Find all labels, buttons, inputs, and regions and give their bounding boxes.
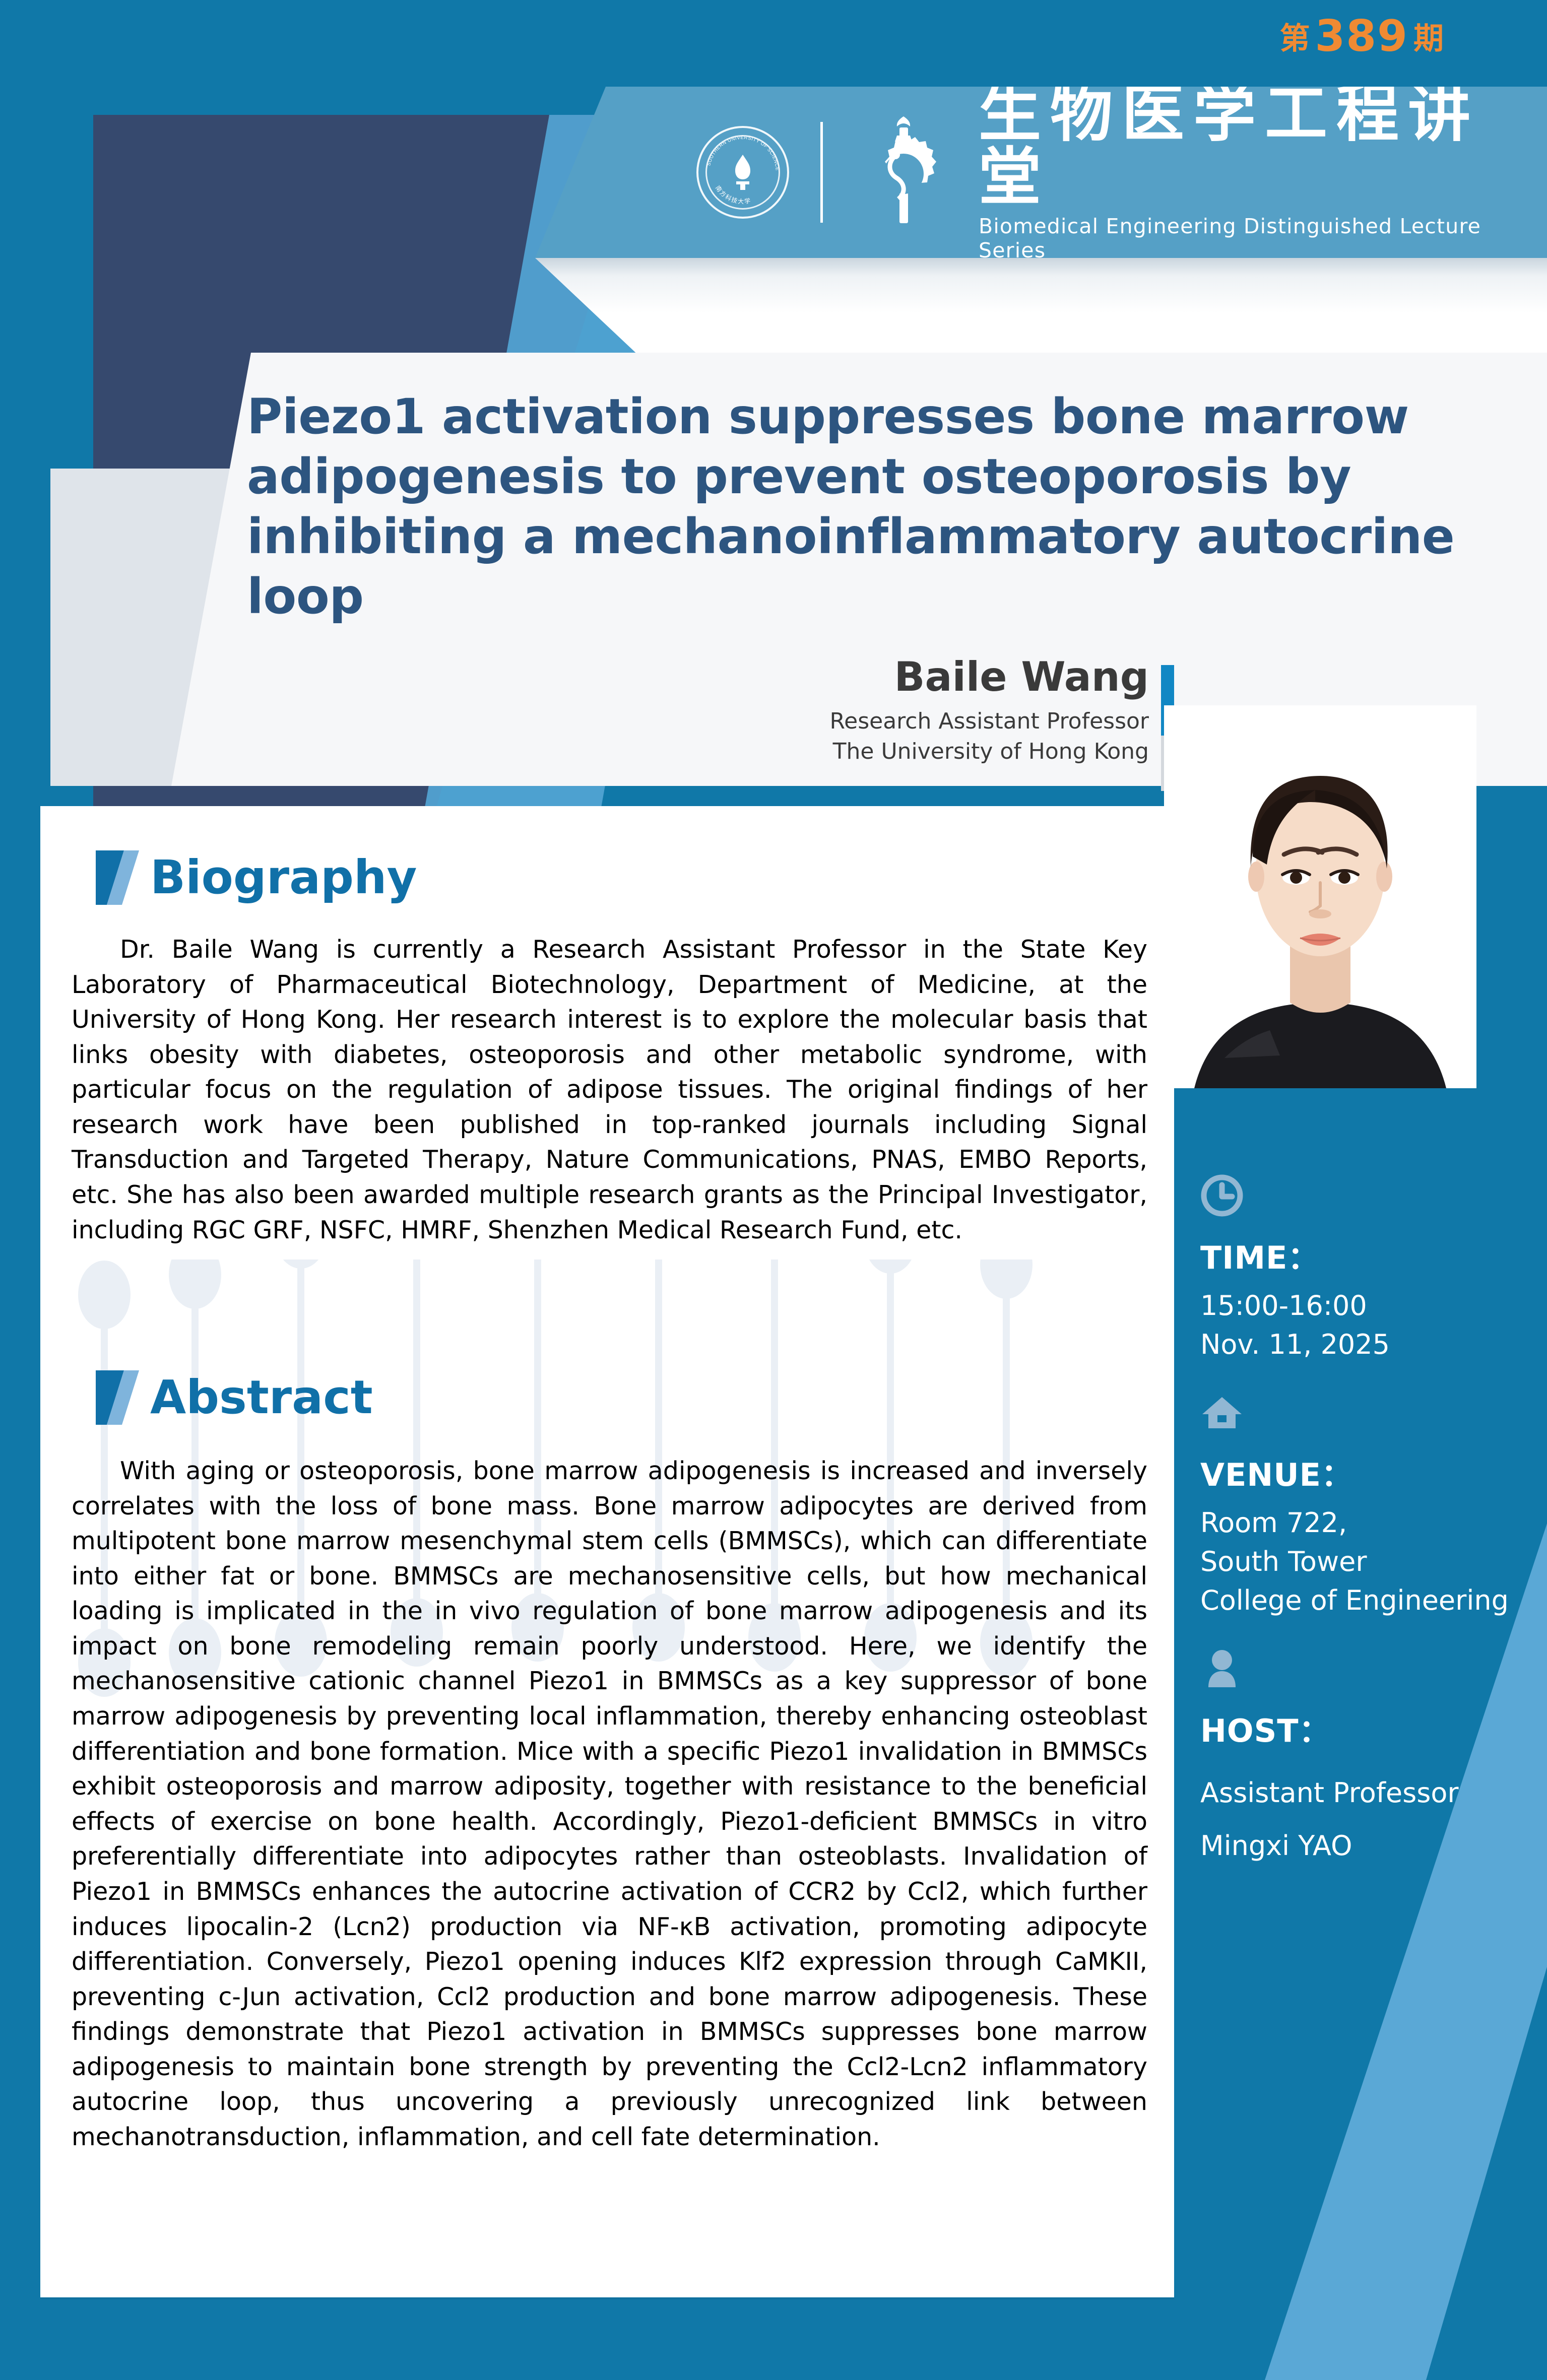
sustech-university-seal-icon: SOUTHERN UNIVERSITY OF SCIENCE AND TECHN…: [696, 126, 789, 219]
venue-value-tower: South Tower: [1200, 1543, 1547, 1581]
header-chinese-title: 生物医学工程讲堂: [979, 82, 1547, 210]
issue-number-badge: 第389期: [1279, 11, 1444, 61]
abstract-body: With aging or osteoporosis, bone marrow …: [72, 1453, 1147, 2155]
biography-body: Dr. Baile Wang is currently a Research A…: [72, 932, 1147, 1247]
event-info-sidebar: TIME： 15:00-16:00 Nov. 11, 2025 VENUE： R…: [1200, 1174, 1547, 1893]
issue-number: 389: [1315, 11, 1408, 61]
biography-heading-label: Biography: [150, 854, 417, 901]
venue-label: VENUE：: [1200, 1449, 1547, 1495]
time-value-hours: 15:00-16:00: [1200, 1287, 1547, 1326]
time-label: TIME：: [1200, 1232, 1547, 1278]
speaker-block: Baile Wang Research Assistant Professor …: [695, 655, 1149, 767]
issue-suffix: 期: [1413, 21, 1444, 56]
home-icon: [1200, 1391, 1244, 1434]
abstract-heading-label: Abstract: [150, 1374, 373, 1421]
venue-value-college: College of Engineering: [1200, 1581, 1547, 1620]
page-title: Piezo1 activation suppresses bone marrow…: [247, 387, 1502, 627]
section-marker-icon: [96, 850, 139, 905]
header-divider: [820, 122, 823, 223]
issue-band: [535, 258, 1547, 358]
header-banner: SOUTHERN UNIVERSITY OF SCIENCE AND TECHN…: [535, 87, 1547, 258]
issue-prefix: 第: [1279, 21, 1310, 56]
time-value-date: Nov. 11, 2025: [1200, 1326, 1547, 1364]
host-info-block: HOST： Assistant Professor Mingxi YAO: [1200, 1647, 1547, 1865]
section-marker-icon: [96, 1370, 139, 1425]
time-info-block: TIME： 15:00-16:00 Nov. 11, 2025: [1200, 1174, 1547, 1364]
lecture-poster: SOUTHERN UNIVERSITY OF SCIENCE AND TECHN…: [0, 0, 1547, 2380]
venue-info-block: VENUE： Room 722, South Tower College of …: [1200, 1391, 1547, 1620]
bme-emblem-icon: [852, 114, 955, 230]
header-english-title: Biomedical Engineering Distinguished Lec…: [979, 214, 1547, 262]
host-label: HOST：: [1200, 1705, 1547, 1751]
speaker-portrait-photo: [1164, 705, 1476, 1088]
host-value-name: Mingxi YAO: [1200, 1827, 1547, 1866]
main-content-card: Biography Dr. Baile Wang is currently a …: [40, 806, 1174, 2297]
speaker-title: Research Assistant Professor: [695, 706, 1149, 737]
speaker-affiliation: The University of Hong Kong: [695, 737, 1149, 767]
host-value-title: Assistant Professor: [1200, 1774, 1547, 1813]
person-icon: [1200, 1647, 1244, 1690]
speaker-name: Baile Wang: [695, 655, 1149, 699]
venue-value-room: Room 722,: [1200, 1504, 1547, 1543]
abstract-heading: Abstract: [96, 1370, 373, 1425]
clock-icon: [1200, 1174, 1244, 1217]
biography-heading: Biography: [96, 850, 417, 905]
